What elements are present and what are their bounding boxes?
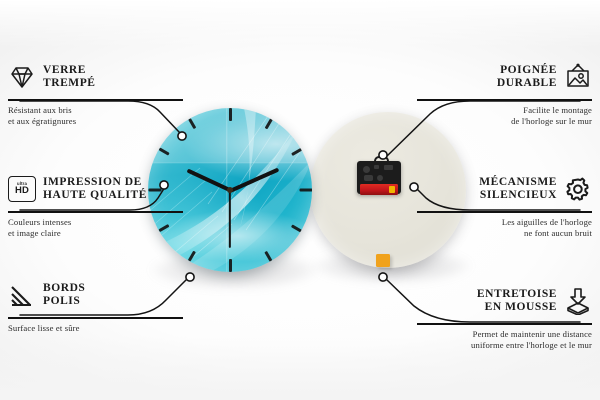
infographic-canvas: VERRE TREMPÉ Résistant aux bris et aux é… <box>0 0 600 400</box>
feature-description: Permet de maintenir une distance uniform… <box>417 329 592 351</box>
title-underline <box>417 99 592 101</box>
anchor-dot-verre-trempe <box>178 132 186 140</box>
feature-poignee-durable[interactable]: POIGNÉE DURABLE Facilite le montage de l… <box>417 58 592 127</box>
title-underline <box>417 211 592 213</box>
feature-description: Les aiguilles de l'horloge ne font aucun… <box>417 217 592 239</box>
title-underline <box>8 211 183 213</box>
title-underline <box>8 99 183 101</box>
ultra-hd-large-text: HD <box>15 186 29 196</box>
gear-icon <box>564 175 592 203</box>
feature-title: ENTRETOISE EN MOUSSE <box>477 288 557 314</box>
anchor-dot-entretoise <box>379 273 387 281</box>
hanging-frame-icon <box>564 63 592 91</box>
feature-description: Surface lisse et sûre <box>8 323 183 334</box>
anchor-dot-bords-polis <box>186 273 194 281</box>
feature-title: VERRE TREMPÉ <box>43 64 96 90</box>
feature-description: Couleurs intenses et image claire <box>8 217 183 239</box>
feature-entretoise-en-mousse[interactable]: ENTRETOISE EN MOUSSE Permet de maintenir… <box>417 282 592 351</box>
feature-bords-polis[interactable]: BORDS POLIS Surface lisse et sûre <box>8 276 183 334</box>
feature-mecanisme-silencieux[interactable]: MÉCANISME SILENCIEUX Les aiguilles de l'… <box>417 170 592 239</box>
feature-title: POIGNÉE DURABLE <box>497 64 557 90</box>
feature-description: Facilite le montage de l'horloge sur le … <box>417 105 592 127</box>
diagonal-lines-icon <box>8 281 36 309</box>
title-underline <box>8 317 183 319</box>
diamond-icon <box>8 63 36 91</box>
anchor-dot-poignee <box>379 151 387 159</box>
feature-title: IMPRESSION DE HAUTE QUALITÉ <box>43 176 147 202</box>
feature-title: MÉCANISME SILENCIEUX <box>479 176 557 202</box>
feature-title: BORDS POLIS <box>43 282 85 308</box>
title-underline <box>417 323 592 325</box>
ultra-hd-badge-icon: ultra HD <box>8 176 36 202</box>
foam-spacer-icon <box>564 287 592 315</box>
feature-impression-haute-qualite[interactable]: ultra HD IMPRESSION DE HAUTE QUALITÉ Cou… <box>8 170 183 239</box>
feature-description: Résistant aux bris et aux égratignures <box>8 105 183 127</box>
feature-verre-trempe[interactable]: VERRE TREMPÉ Résistant aux bris et aux é… <box>8 58 183 127</box>
